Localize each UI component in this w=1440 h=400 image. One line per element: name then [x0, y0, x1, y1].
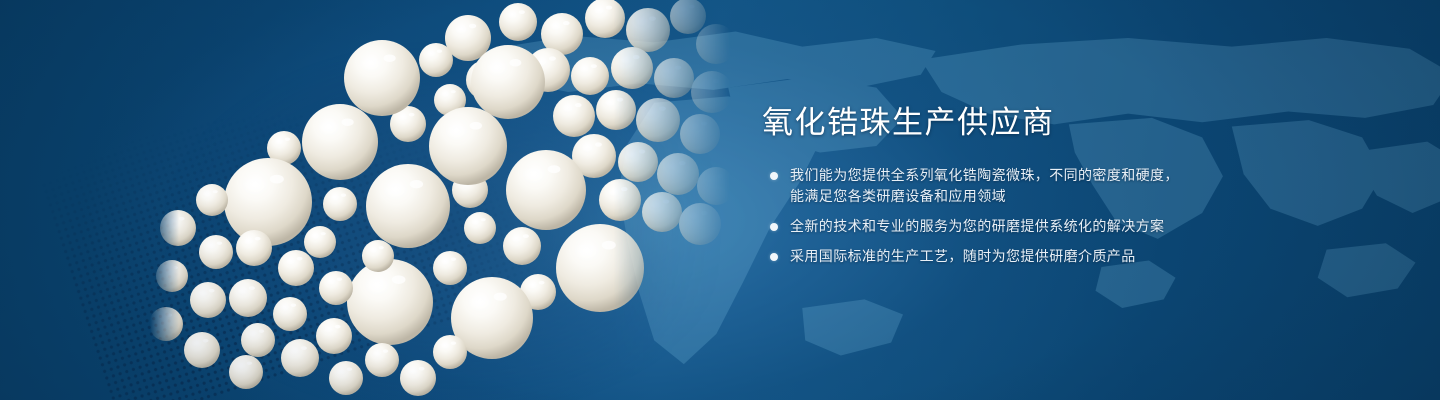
vignette-overlay	[0, 0, 1440, 400]
hero-banner: 氧化锆珠生产供应商 我们能为您提供全系列氧化锆陶瓷微珠，不同的密度和硬度， 能满…	[0, 0, 1440, 400]
